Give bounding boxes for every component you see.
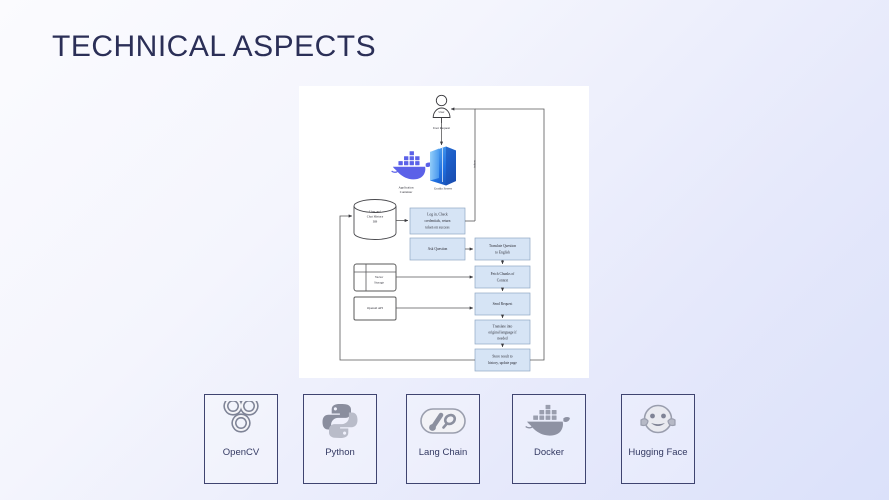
translate-question-step: Translate Question to English [475,238,530,260]
login-check-step: Log in, Check credentials, return token … [410,208,465,234]
opencv-logo-icon [205,395,277,447]
huggingface-emoji-icon [622,395,694,447]
translate-back-step: Translate into original language if need… [475,320,530,344]
user-chat-history-db: User and Chat History DB [354,200,396,240]
page-title: TECHNICAL ASPECTS [52,30,376,64]
send-request-step: Send Request [475,293,530,315]
application-container-label-line1: Application [398,186,413,190]
db-label-line1: User and [369,210,381,214]
gradio-server-label: Gradio Server [434,187,453,191]
server-book-icon [430,147,456,186]
login-step-line3: token on success [425,225,450,229]
tech-card-opencv[interactable]: OpenCV [204,394,278,484]
tech-card-label-huggingface: Hugging Face [625,447,690,459]
translate-q-line2: to English [495,250,510,254]
tech-card-label-opencv: OpenCV [220,447,262,459]
tech-card-huggingface[interactable]: Hugging Face [621,394,695,484]
vector-storage-line1: Vector [375,275,384,279]
fetch-chunks-line2: Context [497,278,508,282]
openai-api: OpenAI API [354,297,396,320]
python-logo-icon [304,395,376,447]
send-request-label: Send Request [493,302,513,306]
translate-q-line1: Translate Question [489,244,516,248]
translate-back-line2: original language if [488,330,517,334]
fetch-chunks-line1: Fetch Chunks of [491,272,516,276]
store-result-line1: Store result to [492,354,512,358]
store-result-step: Store result to history, update page [475,349,530,371]
openai-api-label: OpenAI API [367,306,383,310]
tech-card-label-langchain: Lang Chain [416,447,471,459]
docker-whale-logo-icon [513,395,585,447]
tech-stack-cards: OpenCV Python Lang Chain [0,392,889,488]
token-edge-label: token [473,160,477,167]
architecture-diagram-svg: User User Request Application Container [299,86,589,378]
user-label: User [438,110,445,114]
translate-back-line1: Translate into [493,324,513,328]
vector-storage-line2: Storage [374,281,384,285]
architecture-diagram-panel: User User Request Application Container [299,86,589,378]
user-request-edge-label: User Request [433,126,450,130]
fetch-chunks-step: Fetch Chunks of Context [475,266,530,288]
translate-back-line3: needed [497,336,507,340]
ask-question-step: Ask Question [410,238,465,260]
tech-card-docker[interactable]: Docker [512,394,586,484]
application-container-label-line2: Container [400,190,414,194]
ask-question-label: Ask Question [428,247,448,251]
tech-card-label-python: Python [322,447,358,459]
tech-card-langchain[interactable]: Lang Chain [406,394,480,484]
vector-storage: Vector Storage [354,264,396,291]
tech-card-python[interactable]: Python [303,394,377,484]
db-label-line3: DB [373,220,377,224]
langchain-parrot-link-icon [407,395,479,447]
tech-card-label-docker: Docker [531,447,567,459]
db-label-line2: Chat History [367,215,384,219]
